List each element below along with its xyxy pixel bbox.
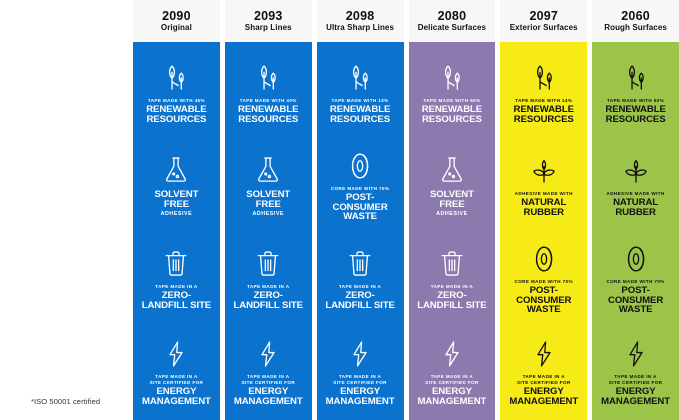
benefit-prefix-text: Tape made in a site certified for [333,374,387,386]
benefit-prefix-text: Tape made with 50% [423,98,480,104]
benefit-cell: Adhesive made withNATURAL RUBBER [592,141,679,234]
benefit-cell: Tape made in a site certified forENERGY … [133,327,220,420]
product-name: Original [161,24,192,32]
benefit-title: NATURAL RUBBER [521,198,566,218]
benefit-prefix-text: Tape made in a site certified for [241,374,295,386]
product-comparison-board: 2090Original Tape made with 45%RENEWABLE… [0,0,679,420]
benefit-cell: Tape made in a site certified forENERGY … [592,327,679,420]
benefit-cell: Tape made in aZERO- LANDFILL SITE [409,234,496,327]
benefit-title: SOLVENT FREE [430,190,474,210]
benefit-prefix-text: Tape made in a site certified for [150,374,204,386]
product-column-body: Tape made with 13%RENEWABLE RESOURCES Co… [317,42,404,420]
benefit-prefix-text: Tape made with 40% [240,98,297,104]
benefit-title: POST-CONSUMER WASTE [503,286,584,316]
leaves-icon [437,61,467,95]
lightning-bolt-icon [441,337,463,371]
benefit-cell: Core made with 70%POST-CONSUMER WASTE [592,234,679,327]
benefit-prefix-text: Core made with 70% [331,186,389,192]
benefit-cell: Tape made with 13%RENEWABLE RESOURCES [317,48,404,141]
rubber-plant-icon [621,154,651,188]
benefit-title: RENEWABLE RESOURCES [238,105,298,125]
product-column-header: 2098Ultra Sharp Lines [317,0,404,42]
benefit-prefix-text: Tape made in a [339,284,381,290]
benefit-cell: Core made with 70%POST-CONSUMER WASTE [317,141,404,234]
product-column-header: 2060Rough Surfaces [592,0,679,42]
flask-icon [254,153,282,187]
trash-can-icon [255,247,281,281]
benefit-prefix-text: Core made with 70% [515,279,573,285]
benefit-title: RENEWABLE RESOURCES [330,105,390,125]
benefit-prefix-text: Tape made in a site certified for [609,374,663,386]
benefit-title: RENEWABLE RESOURCES [514,105,574,125]
benefit-title: ENERGY MANAGEMENT [326,387,395,407]
benefit-cell: Adhesive made withNATURAL RUBBER [500,141,587,234]
benefit-title: RENEWABLE RESOURCES [146,105,206,125]
benefit-title: SOLVENT FREE [154,190,198,210]
flask-icon [438,153,466,187]
tape-roll-icon [346,149,374,183]
product-column[interactable]: 2090Original Tape made with 45%RENEWABLE… [133,0,220,420]
leaves-icon [161,61,191,95]
benefit-cell: Tape made with 45%RENEWABLE RESOURCES [133,48,220,141]
benefit-cell: Tape made in a site certified forENERGY … [500,327,587,420]
benefit-title: ZERO- LANDFILL SITE [417,291,486,311]
benefit-prefix-text: Tape made in a [155,284,197,290]
leaves-icon [253,61,283,95]
benefit-cell: SOLVENT FREEAdhesive [133,141,220,234]
benefit-title: ENERGY MANAGEMENT [142,387,211,407]
lightning-bolt-icon [349,337,371,371]
benefit-prefix-text: Core made with 70% [606,279,664,285]
benefit-cell: SOLVENT FREEAdhesive [225,141,312,234]
product-code: 2098 [346,10,375,23]
benefit-prefix-text: Tape made with 45% [148,98,205,104]
product-code: 2093 [254,10,283,23]
product-column[interactable]: 2080Delicate Surfaces Tape made with 50%… [409,0,496,420]
rubber-plant-icon [529,154,559,188]
trash-can-icon [439,247,465,281]
benefit-prefix-text: Adhesive made with [607,191,665,197]
benefit-subtitle: Adhesive [252,211,284,218]
benefit-prefix-text: Tape made in a site certified for [425,374,479,386]
benefit-title: ENERGY MANAGEMENT [509,387,578,407]
product-column-body: Tape made with 50%RENEWABLE RESOURCES Ad… [592,42,679,420]
benefit-cell: Core made with 70%POST-CONSUMER WASTE [500,234,587,327]
product-column[interactable]: 2097Exterior Surfaces Tape made with 14%… [500,0,587,420]
benefit-cell: Tape made in aZERO- LANDFILL SITE [225,234,312,327]
product-column-header: 2097Exterior Surfaces [500,0,587,42]
product-column[interactable]: 2093Sharp Lines Tape made with 40%RENEWA… [225,0,312,420]
product-code: 2080 [438,10,467,23]
benefit-title: RENEWABLE RESOURCES [605,105,665,125]
benefit-title: SOLVENT FREE [246,190,290,210]
product-name: Delicate Surfaces [418,24,486,32]
benefit-title: ENERGY MANAGEMENT [234,387,303,407]
benefit-prefix-text: Tape made with 14% [515,98,572,104]
benefit-title: ENERGY MANAGEMENT [601,387,670,407]
product-name: Ultra Sharp Lines [326,24,394,32]
product-code: 2097 [529,10,558,23]
leaves-icon [621,61,651,95]
benefit-prefix-text: Tape made in a [247,284,289,290]
benefit-prefix-text: Tape made in a site certified for [517,374,571,386]
benefit-cell: Tape made with 14%RENEWABLE RESOURCES [500,48,587,141]
product-name: Exterior Surfaces [510,24,578,32]
product-code: 2060 [621,10,650,23]
benefit-title: POST-CONSUMER WASTE [595,286,676,316]
product-column-header: 2090Original [133,0,220,42]
benefit-cell: Tape made in a site certified forENERGY … [409,327,496,420]
product-columns-grid: 2090Original Tape made with 45%RENEWABLE… [133,0,679,420]
benefit-prefix-text: Tape made with 50% [607,98,664,104]
benefit-cell: Tape made with 50%RENEWABLE RESOURCES [409,48,496,141]
footnote: *ISO 50001 certified [31,397,100,406]
product-column-body: Tape made with 45%RENEWABLE RESOURCES SO… [133,42,220,420]
benefit-cell: Tape made in a site certified forENERGY … [317,327,404,420]
product-column-body: Tape made with 50%RENEWABLE RESOURCES SO… [409,42,496,420]
benefit-title: POST-CONSUMER WASTE [320,193,401,223]
benefit-title: ZERO- LANDFILL SITE [142,291,211,311]
benefit-prefix-text: Adhesive made with [515,191,573,197]
product-column[interactable]: 2098Ultra Sharp Lines Tape made with 13%… [317,0,404,420]
product-column-body: Tape made with 14%RENEWABLE RESOURCES Ad… [500,42,587,420]
product-column-header: 2093Sharp Lines [225,0,312,42]
flask-icon [162,153,190,187]
product-name: Sharp Lines [245,24,292,32]
lightning-bolt-icon [257,337,279,371]
benefit-cell: SOLVENT FREEAdhesive [409,141,496,234]
benefit-prefix-text: Tape made with 13% [332,98,389,104]
benefit-cell: Tape made in aZERO- LANDFILL SITE [133,234,220,327]
benefit-title: ENERGY MANAGEMENT [418,387,487,407]
benefit-subtitle: Adhesive [436,211,468,218]
product-column-header: 2080Delicate Surfaces [409,0,496,42]
product-name: Rough Surfaces [604,24,667,32]
benefit-subtitle: Adhesive [161,211,193,218]
leaves-icon [345,61,375,95]
lightning-bolt-icon [533,337,555,371]
trash-can-icon [347,247,373,281]
product-column[interactable]: 2060Rough Surfaces Tape made with 50%REN… [592,0,679,420]
trash-can-icon [163,247,189,281]
benefit-title: NATURAL RUBBER [613,198,658,218]
benefit-cell: Tape made with 40%RENEWABLE RESOURCES [225,48,312,141]
benefit-title: ZERO- LANDFILL SITE [325,291,394,311]
benefit-cell: Tape made in a site certified forENERGY … [225,327,312,420]
tape-roll-icon [622,242,650,276]
benefit-title: RENEWABLE RESOURCES [422,105,482,125]
lightning-bolt-icon [625,337,647,371]
product-code: 2090 [162,10,191,23]
tape-roll-icon [530,242,558,276]
lightning-bolt-icon [165,337,187,371]
benefit-cell: Tape made with 50%RENEWABLE RESOURCES [592,48,679,141]
benefit-prefix-text: Tape made in a [431,284,473,290]
benefit-cell: Tape made in aZERO- LANDFILL SITE [317,234,404,327]
benefit-title: ZERO- LANDFILL SITE [234,291,303,311]
product-column-body: Tape made with 40%RENEWABLE RESOURCES SO… [225,42,312,420]
leaves-icon [529,61,559,95]
